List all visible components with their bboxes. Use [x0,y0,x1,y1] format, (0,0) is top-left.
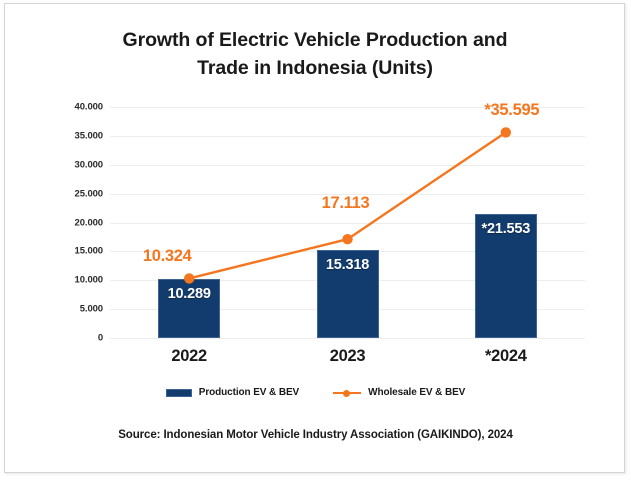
legend-label: Production EV & BEV [199,387,299,398]
y-axis-tick-label: 25.000 [75,188,103,199]
line-point-2023[interactable] [342,234,352,244]
line-value-label: *35.595 [484,101,539,120]
x-axis-tick-2023: 2023 [330,347,366,366]
y-axis-tick-label: 30.000 [75,159,103,170]
y-axis-tick-label: 40.000 [75,102,103,113]
line-value-label: 17.113 [322,194,370,213]
chart-legend: Production EV & BEV Wholesale EV & BEV [5,387,626,398]
chart-card: Growth of Electric Vehicle Production an… [4,3,625,473]
page-title: Growth of Electric Vehicle Production an… [50,26,580,83]
wholesale-line-series [110,107,585,338]
y-axis-tick-label: 10.000 [75,275,103,286]
line-value-label: 10.324 [143,247,192,266]
y-axis-tick-label: 20.000 [75,217,103,228]
bar-swatch-icon [166,389,192,397]
line-point-2022[interactable] [184,273,194,283]
y-axis-tick-label: 15.000 [75,246,103,257]
legend-item-production[interactable]: Production EV & BEV [166,387,299,398]
gridline: 0 [110,338,585,339]
x-axis-tick-2022: 2022 [171,347,207,366]
source-note: Source: Indonesian Motor Vehicle Industr… [5,429,626,441]
line-point-2024[interactable] [501,127,511,137]
chart-title-line-2: Trade in Indonesia (Units) [50,54,580,82]
chart-title-line-1: Growth of Electric Vehicle Production an… [50,26,580,54]
x-axis: 2022 2023 *2024 [110,341,585,369]
line-marker-icon [333,388,361,397]
plot-area: 40.000 35.000 30.000 25.000 20.000 15.00… [110,107,585,338]
x-axis-tick-2024: *2024 [485,347,527,366]
legend-label: Wholesale EV & BEV [368,387,465,398]
y-axis-tick-label: 35.000 [75,130,103,141]
y-axis-tick-label: 0 [98,333,103,344]
y-axis-tick-label: 5.000 [80,304,103,315]
legend-item-wholesale[interactable]: Wholesale EV & BEV [333,387,465,398]
